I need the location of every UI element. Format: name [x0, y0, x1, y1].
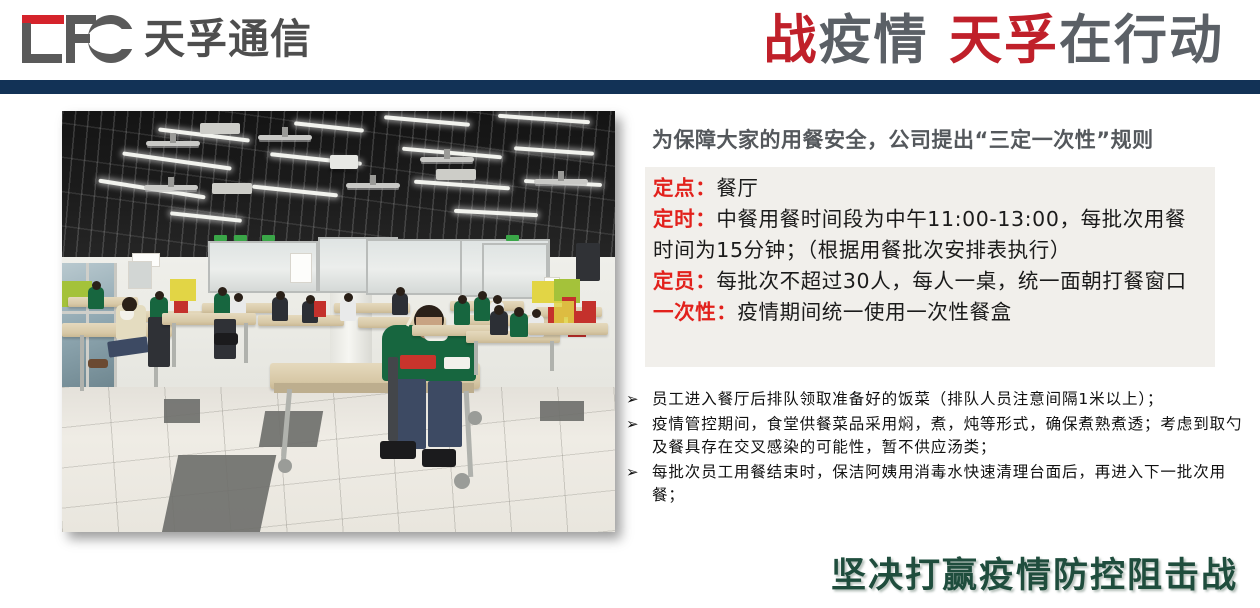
title-segment-2: 疫情	[819, 9, 929, 71]
projector-icon	[330, 155, 358, 169]
title-segment-3: 天孚	[949, 9, 1059, 71]
ceiling-fan-icon	[420, 157, 474, 162]
rules-heading: 为保障大家的用餐安全，公司提出“三定一次性”规则	[652, 124, 1242, 154]
ceiling-fan-icon	[258, 135, 312, 140]
arrow-bullet-icon: ➢	[626, 388, 652, 411]
bullet-list: ➢ 员工进入餐厅后排队领取准备好的饭菜（排队人员注意间隔1米以上）； ➢ 疫情管…	[626, 388, 1246, 509]
page-title: 战疫情 天孚在行动	[764, 9, 1224, 71]
arrow-bullet-icon: ➢	[626, 461, 652, 484]
cafeteria-photo	[62, 111, 615, 532]
rule-key-0: 定点：	[653, 176, 716, 200]
arrow-bullet-icon: ➢	[626, 413, 652, 436]
cfc-logo-icon	[22, 15, 134, 63]
list-item-text: 每批次员工用餐结束时，保洁阿姨用消毒水快速清理台面后，再进入下一批次用餐；	[652, 461, 1246, 507]
rule-row-1: 定时：中餐用餐时间段为中午11:00-13:00，每批次用餐时间为15分钟；（根…	[653, 204, 1205, 266]
rule-key-1: 定时：	[653, 207, 716, 231]
slide-header: 天孚通信 战疫情 天孚在行动	[0, 0, 1260, 80]
rule-row-2: 定员：每批次不超过30人，每人一桌，统一面朝打餐窗口	[653, 266, 1205, 297]
wall-tv-icon	[576, 243, 600, 281]
rule-value-0: 餐厅	[716, 176, 758, 200]
list-item: ➢ 疫情管控期间，食堂供餐菜品采用焖，煮，炖等形式，确保煮熟煮透；考虑到取勺及餐…	[626, 413, 1246, 459]
rule-key-3: 一次性：	[653, 300, 737, 324]
rule-value-3: 疫情期间统一使用一次性餐盒	[737, 300, 1011, 324]
title-segment-1: 战	[764, 9, 819, 71]
list-item: ➢ 每批次员工用餐结束时，保洁阿姨用消毒水快速清理台面后，再进入下一批次用餐；	[626, 461, 1246, 507]
rule-key-2: 定员：	[653, 269, 716, 293]
ceiling-fan-icon	[144, 185, 198, 190]
brand-logo: 天孚通信	[22, 8, 312, 70]
rule-row-0: 定点：餐厅	[653, 173, 1205, 204]
list-item-text: 疫情管控期间，食堂供餐菜品采用焖，煮，炖等形式，确保煮熟煮透；考虑到取勺及餐具存…	[652, 413, 1246, 459]
list-item-text: 员工进入餐厅后排队领取准备好的饭菜（排队人员注意间隔1米以上）；	[652, 388, 1246, 411]
footer-slogan: 坚决打赢疫情防控阻击战	[831, 547, 1238, 598]
ceiling-fan-icon	[346, 183, 400, 188]
rules-box: 定点：餐厅 定时：中餐用餐时间段为中午11:00-13:00，每批次用餐时间为1…	[645, 167, 1215, 367]
title-segment-4: 在行动	[1059, 9, 1224, 71]
rule-value-2: 每批次不超过30人，每人一桌，统一面朝打餐窗口	[716, 269, 1186, 293]
list-item: ➢ 员工进入餐厅后排队领取准备好的饭菜（排队人员注意间隔1米以上）；	[626, 388, 1246, 411]
ceiling-fan-icon	[146, 141, 200, 146]
rule-value-1: 中餐用餐时间段为中午11:00-13:00，每批次用餐时间为15分钟；（根据用餐…	[653, 207, 1186, 262]
brand-name: 天孚通信	[144, 15, 312, 63]
header-divider-bar	[0, 80, 1260, 94]
rule-row-3: 一次性：疫情期间统一使用一次性餐盒	[653, 297, 1205, 328]
ceiling-fan-icon	[534, 179, 588, 184]
